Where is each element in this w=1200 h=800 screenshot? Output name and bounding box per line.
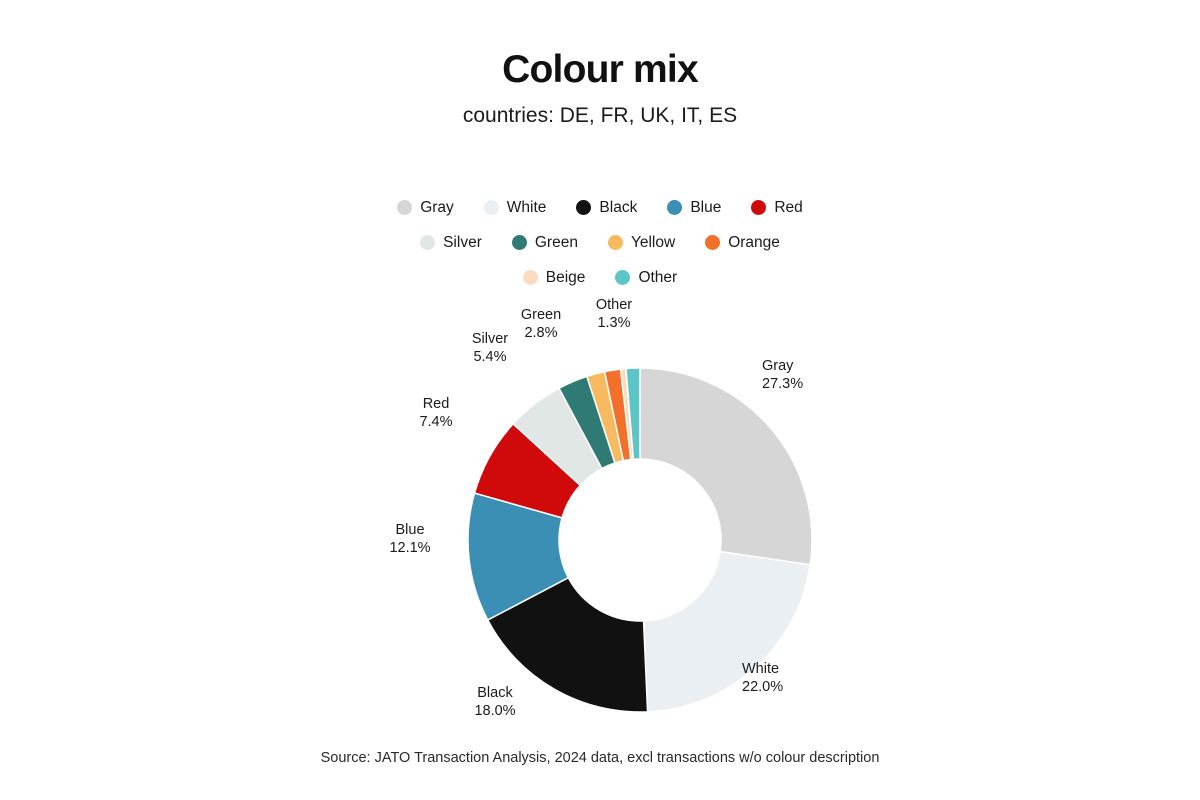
- slice-label-name: Green: [521, 307, 561, 325]
- slice-label-name: Silver: [472, 331, 508, 349]
- donut-slice-green[interactable]: [559, 376, 615, 468]
- slice-label-value: 22.0%: [742, 679, 783, 697]
- page-title: Colour mix: [0, 48, 1200, 92]
- legend-swatch-icon: [667, 200, 682, 215]
- slice-label-name: Blue: [389, 522, 430, 540]
- legend-item-orange[interactable]: Orange: [705, 234, 780, 252]
- legend-row: GrayWhiteBlackBlueRed: [0, 190, 1200, 225]
- legend-item-label: Orange: [728, 234, 780, 252]
- legend-item-label: Gray: [420, 199, 454, 217]
- legend-item-label: Silver: [443, 234, 482, 252]
- slice-label-green: Green2.8%: [521, 307, 561, 342]
- legend-swatch-icon: [608, 235, 623, 250]
- legend-item-white[interactable]: White: [484, 199, 547, 217]
- donut-slice-blue[interactable]: [468, 493, 568, 620]
- slice-label-white: White22.0%: [742, 661, 783, 696]
- legend-swatch-icon: [512, 235, 527, 250]
- legend-item-green[interactable]: Green: [512, 234, 578, 252]
- legend-swatch-icon: [484, 200, 499, 215]
- legend-item-label: Yellow: [631, 234, 675, 252]
- chart-legend: GrayWhiteBlackBlueRedSilverGreenYellowOr…: [0, 190, 1200, 295]
- legend-item-label: Blue: [690, 199, 721, 217]
- slice-label-silver: Silver5.4%: [472, 331, 508, 366]
- slice-label-value: 2.8%: [521, 325, 561, 343]
- slice-label-name: Black: [474, 685, 515, 703]
- slice-label-value: 27.3%: [762, 376, 803, 394]
- slice-label-value: 12.1%: [389, 540, 430, 558]
- legend-item-label: White: [507, 199, 547, 217]
- legend-swatch-icon: [576, 200, 591, 215]
- legend-swatch-icon: [397, 200, 412, 215]
- legend-swatch-icon: [523, 270, 538, 285]
- legend-row: SilverGreenYellowOrange: [0, 225, 1200, 260]
- slice-label-name: Gray: [762, 358, 803, 376]
- colour-mix-chart: Colour mix countries: DE, FR, UK, IT, ES…: [0, 0, 1200, 800]
- donut-slice-silver[interactable]: [513, 388, 602, 485]
- slice-label-value: 5.4%: [472, 349, 508, 367]
- donut-slice-gray[interactable]: [640, 368, 812, 565]
- legend-item-red[interactable]: Red: [751, 199, 802, 217]
- legend-item-gray[interactable]: Gray: [397, 199, 454, 217]
- legend-item-black[interactable]: Black: [576, 199, 637, 217]
- legend-item-beige[interactable]: Beige: [523, 269, 586, 287]
- legend-item-label: Other: [638, 269, 677, 287]
- legend-item-label: Black: [599, 199, 637, 217]
- legend-item-label: Beige: [546, 269, 586, 287]
- slice-label-value: 18.0%: [474, 703, 515, 721]
- donut-slice-red[interactable]: [475, 424, 581, 518]
- slice-label-black: Black18.0%: [474, 685, 515, 720]
- donut-slice-beige[interactable]: [621, 369, 634, 460]
- slice-label-name: Red: [419, 396, 452, 414]
- legend-item-yellow[interactable]: Yellow: [608, 234, 675, 252]
- legend-item-silver[interactable]: Silver: [420, 234, 482, 252]
- legend-item-label: Green: [535, 234, 578, 252]
- slice-label-value: 7.4%: [419, 414, 452, 432]
- legend-swatch-icon: [705, 235, 720, 250]
- slice-label-gray: Gray27.3%: [762, 358, 803, 393]
- donut-slice-white[interactable]: [644, 552, 811, 712]
- donut-slice-orange[interactable]: [605, 369, 631, 461]
- slice-label-name: White: [742, 661, 783, 679]
- slice-label-other: Other1.3%: [596, 297, 632, 332]
- legend-item-blue[interactable]: Blue: [667, 199, 721, 217]
- legend-row: BeigeOther: [0, 260, 1200, 295]
- slice-label-red: Red7.4%: [419, 396, 452, 431]
- slice-label-name: Other: [596, 297, 632, 315]
- legend-item-other[interactable]: Other: [615, 269, 677, 287]
- slice-label-blue: Blue12.1%: [389, 522, 430, 557]
- legend-item-label: Red: [774, 199, 802, 217]
- slice-label-value: 1.3%: [596, 315, 632, 333]
- donut-slice-yellow[interactable]: [587, 372, 623, 463]
- legend-swatch-icon: [751, 200, 766, 215]
- page-subtitle: countries: DE, FR, UK, IT, ES: [0, 104, 1200, 128]
- donut-slice-other[interactable]: [626, 368, 640, 459]
- legend-swatch-icon: [420, 235, 435, 250]
- legend-swatch-icon: [615, 270, 630, 285]
- source-note: Source: JATO Transaction Analysis, 2024 …: [0, 750, 1200, 766]
